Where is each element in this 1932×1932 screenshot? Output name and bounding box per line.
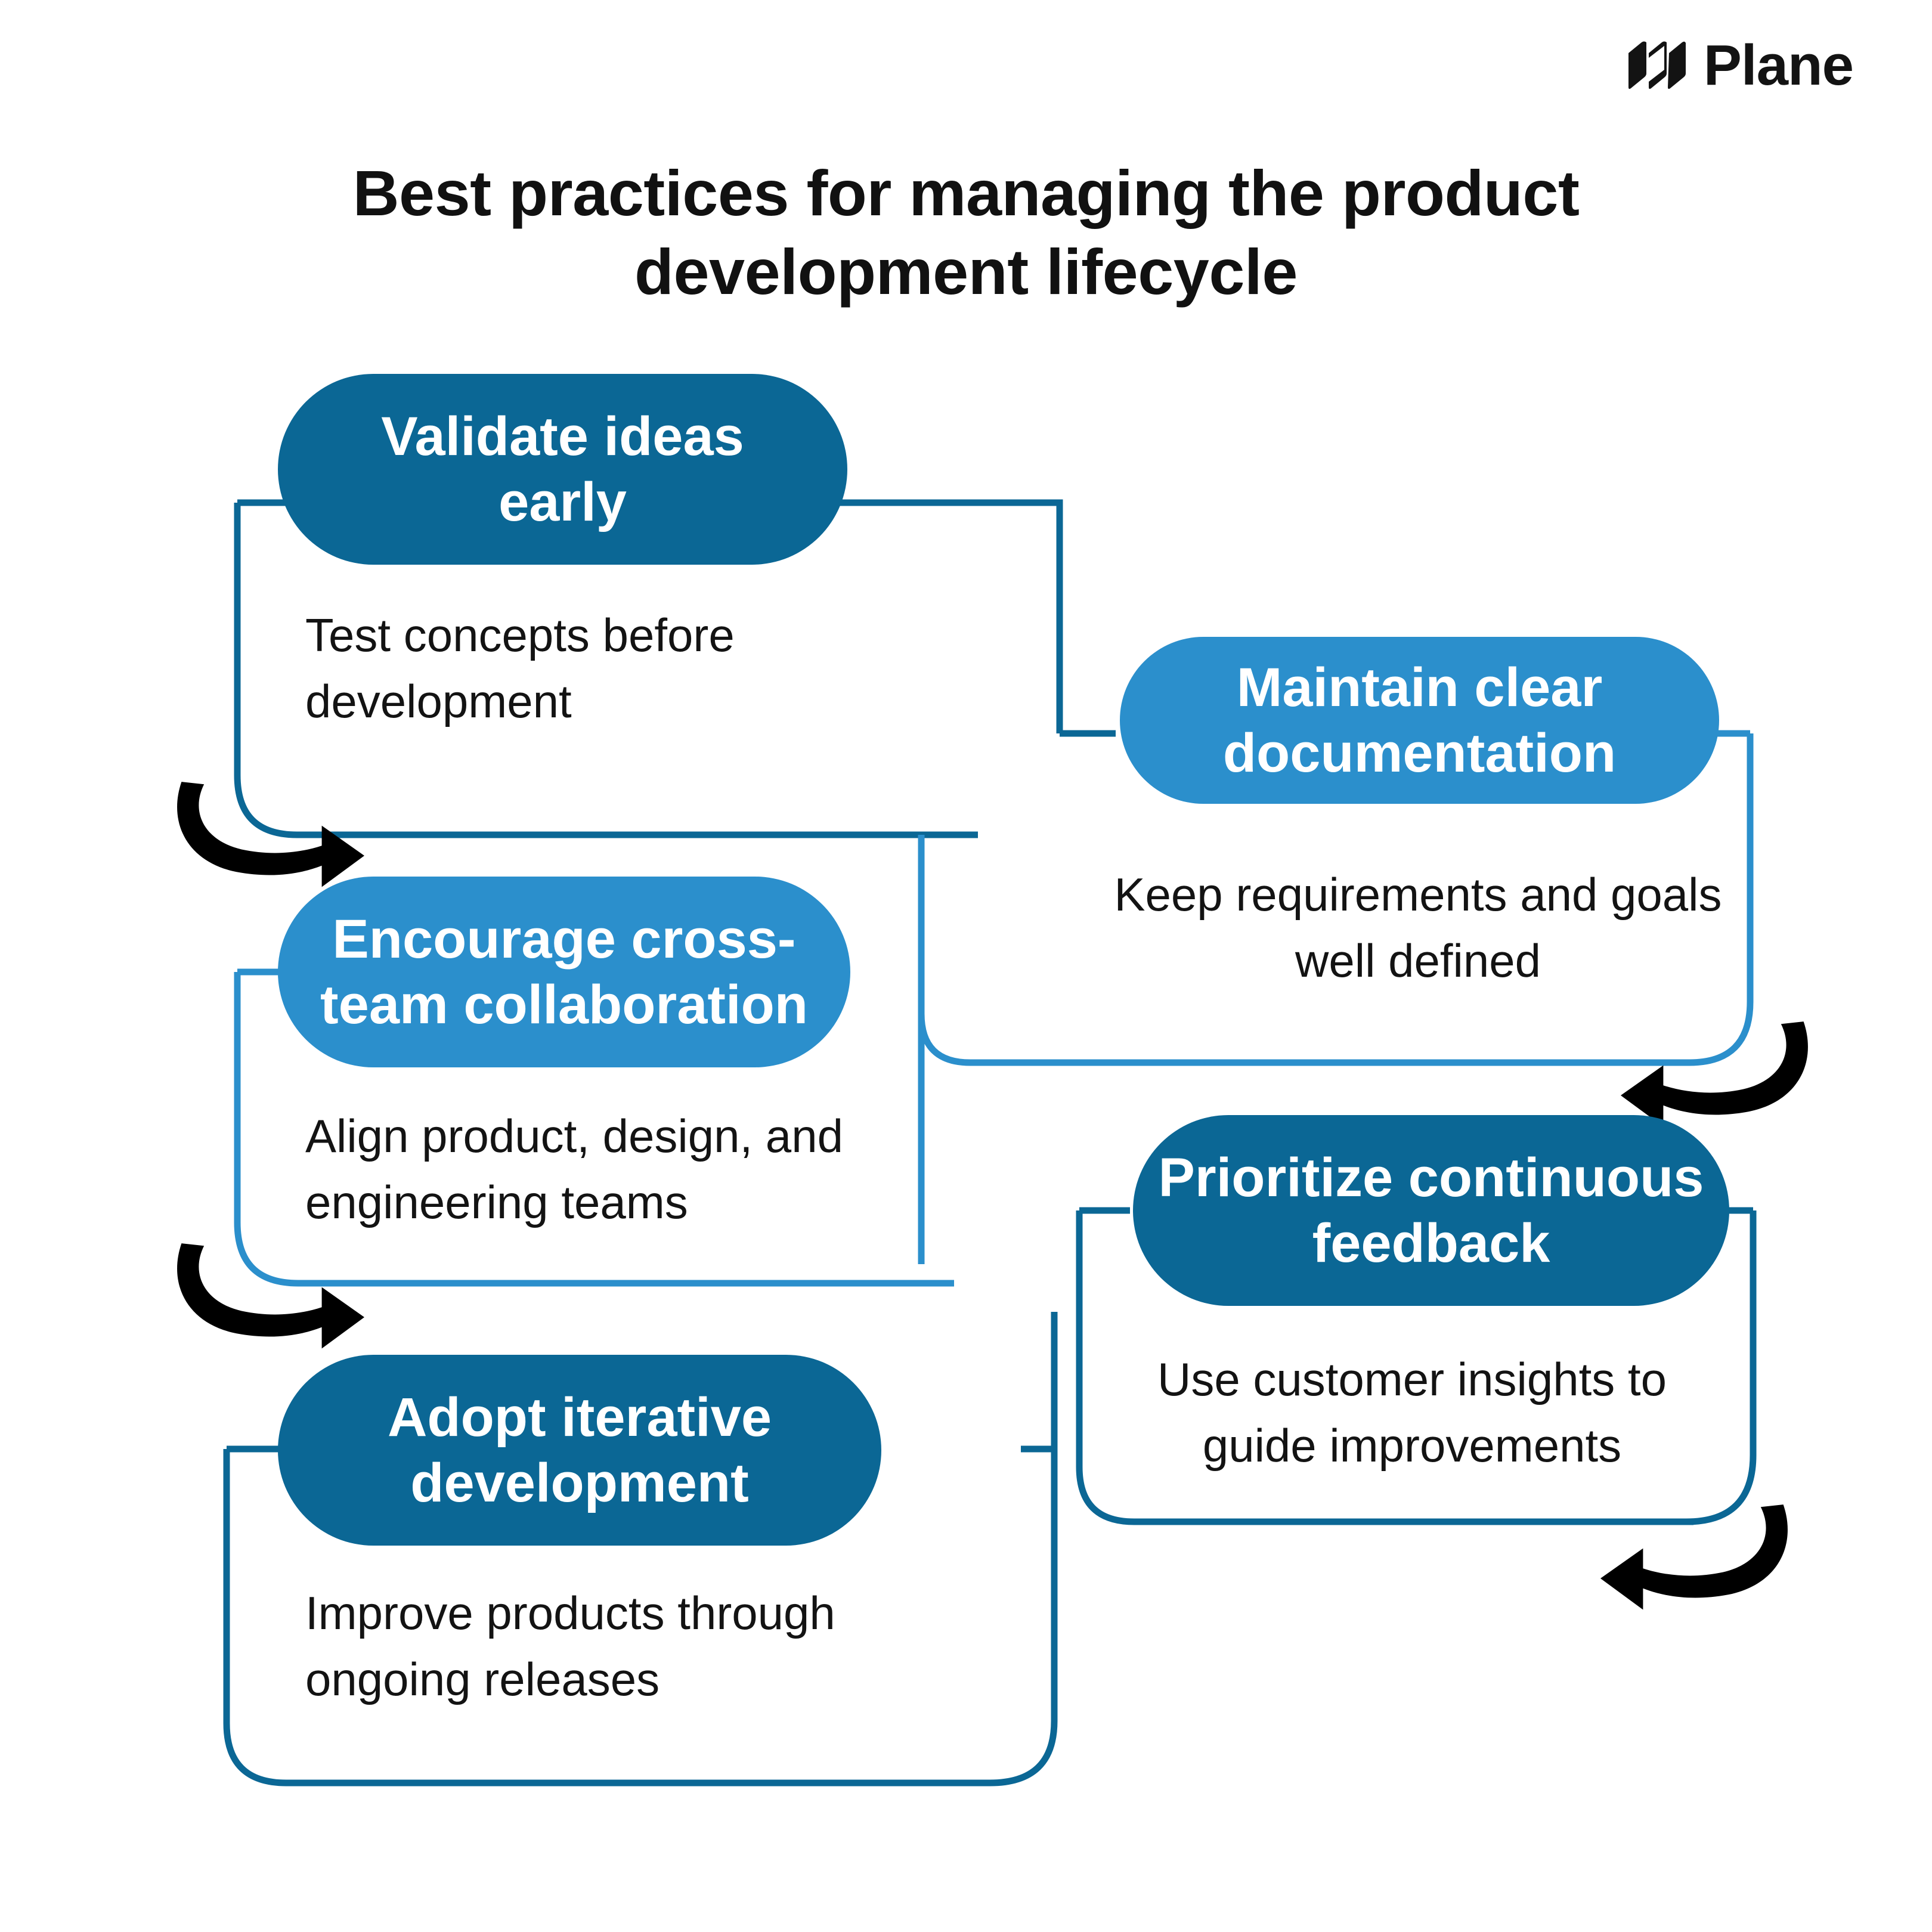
brand-logo: Plane [1626, 37, 1853, 94]
card-heading-text: Prioritize continuous feedback [1148, 1145, 1714, 1277]
card-description-adopt-iterative-development: Improve products through ongoing release… [305, 1580, 919, 1713]
flow-arrow-3 [177, 1243, 364, 1348]
plane-logo-icon [1626, 40, 1688, 91]
flow-arrow-2 [1621, 1021, 1808, 1126]
card-heading-text: Validate ideas early [310, 404, 815, 535]
card-heading-validate-ideas-early[interactable]: Validate ideas early [278, 374, 847, 565]
brand-name: Plane [1704, 37, 1853, 94]
card-heading-encourage-cross-team-collaboration[interactable]: Encourage cross-team collaboration [278, 877, 850, 1067]
card-heading-text: Encourage cross-team collaboration [302, 906, 826, 1038]
infographic-root: Plane Best practices for managing the pr… [0, 0, 1932, 1932]
card-description-encourage-cross-team-collaboration: Align product, design, and engineering t… [305, 1103, 919, 1236]
card-heading-text: Adopt iterative development [310, 1385, 849, 1516]
card-heading-maintain-clear-documentation[interactable]: Maintain clear documentation [1120, 637, 1719, 804]
card-description-validate-ideas-early: Test concepts before development [305, 602, 830, 735]
card-heading-prioritize-continuous-feedback[interactable]: Prioritize continuous feedback [1133, 1115, 1729, 1306]
card-description-prioritize-continuous-feedback: Use customer insights to guide improveme… [1102, 1346, 1722, 1479]
page-title: Best practices for managing the product … [250, 154, 1682, 311]
card-heading-text: Maintain clear documentation [1147, 655, 1692, 787]
card-heading-adopt-iterative-development[interactable]: Adopt iterative development [278, 1355, 881, 1546]
card-description-maintain-clear-documentation: Keep requirements and goals well defined [1096, 862, 1740, 994]
